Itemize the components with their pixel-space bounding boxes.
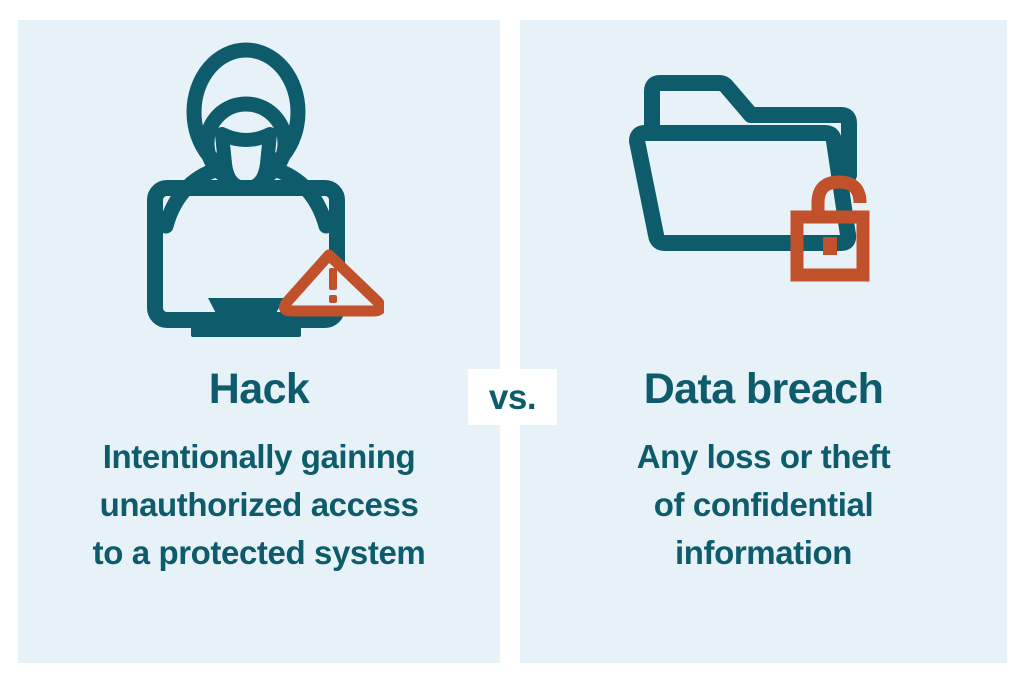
data-breach-icon-area <box>520 20 1007 360</box>
data-breach-text-block: Data breach Any loss or theft of confide… <box>520 368 1007 577</box>
hooded-figure-icon <box>166 50 326 226</box>
definition-line: to a protected system <box>18 529 500 577</box>
definition-data-breach: Any loss or theft of confidential inform… <box>520 433 1007 577</box>
comparison-graphic: Hack Intentionally gaining unauthorized … <box>0 0 1024 683</box>
warning-triangle-icon <box>284 255 380 311</box>
term-data-breach: Data breach <box>520 368 1007 411</box>
definition-line: Any loss or theft <box>520 433 1007 481</box>
hack-icon-area <box>18 20 500 360</box>
definition-line: Intentionally gaining <box>18 433 500 481</box>
hack-text-block: Hack Intentionally gaining unauthorized … <box>18 368 500 577</box>
definition-line: information <box>520 529 1007 577</box>
vs-label: vs. <box>489 380 536 415</box>
vs-badge: vs. <box>468 369 557 425</box>
hacker-at-monitor-icon <box>134 40 384 340</box>
definition-hack: Intentionally gaining unauthorized acces… <box>18 433 500 577</box>
panel-divider <box>500 0 520 683</box>
definition-line: unauthorized access <box>18 481 500 529</box>
open-folder-with-unlocked-padlock-icon <box>629 65 899 315</box>
term-hack: Hack <box>18 368 500 411</box>
definition-line: of confidential <box>520 481 1007 529</box>
